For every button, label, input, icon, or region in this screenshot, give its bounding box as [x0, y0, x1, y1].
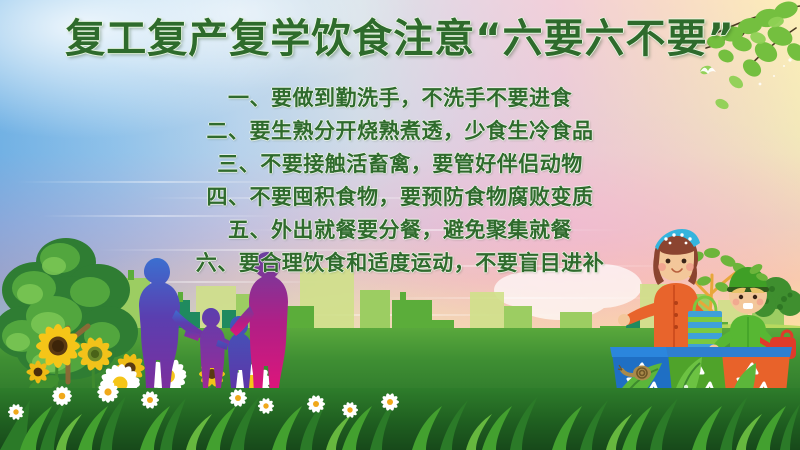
bottom-daisies — [8, 381, 399, 421]
page-title: 复工复产复学饮食注意“六要六不要” — [0, 18, 800, 60]
guideline-item-2: 二、要生熟分开烧熟煮透，少食生冷食品 — [0, 115, 800, 148]
poster-canvas: 复工复产复学饮食注意“六要六不要” 一、要做到勤洗手，不洗手不要进食 二、要生熟… — [0, 0, 800, 450]
guideline-item-6: 六、要合理饮食和适度运动，不要盲目进补 — [0, 247, 800, 280]
guideline-list: 一、要做到勤洗手，不洗手不要进食 二、要生熟分开烧熟煮透，少食生冷食品 三、不要… — [0, 82, 800, 280]
guideline-item-1: 一、要做到勤洗手，不洗手不要进食 — [0, 82, 800, 115]
guideline-item-5: 五、外出就餐要分餐，避免聚集就餐 — [0, 214, 800, 247]
flying-bird-icon — [700, 66, 716, 76]
guideline-item-3: 三、不要接触活畜禽，要管好伴侣动物 — [0, 148, 800, 181]
guideline-item-4: 四、不要囤积食物，要预防食物腐败变质 — [0, 181, 800, 214]
grass-blades — [0, 376, 800, 450]
